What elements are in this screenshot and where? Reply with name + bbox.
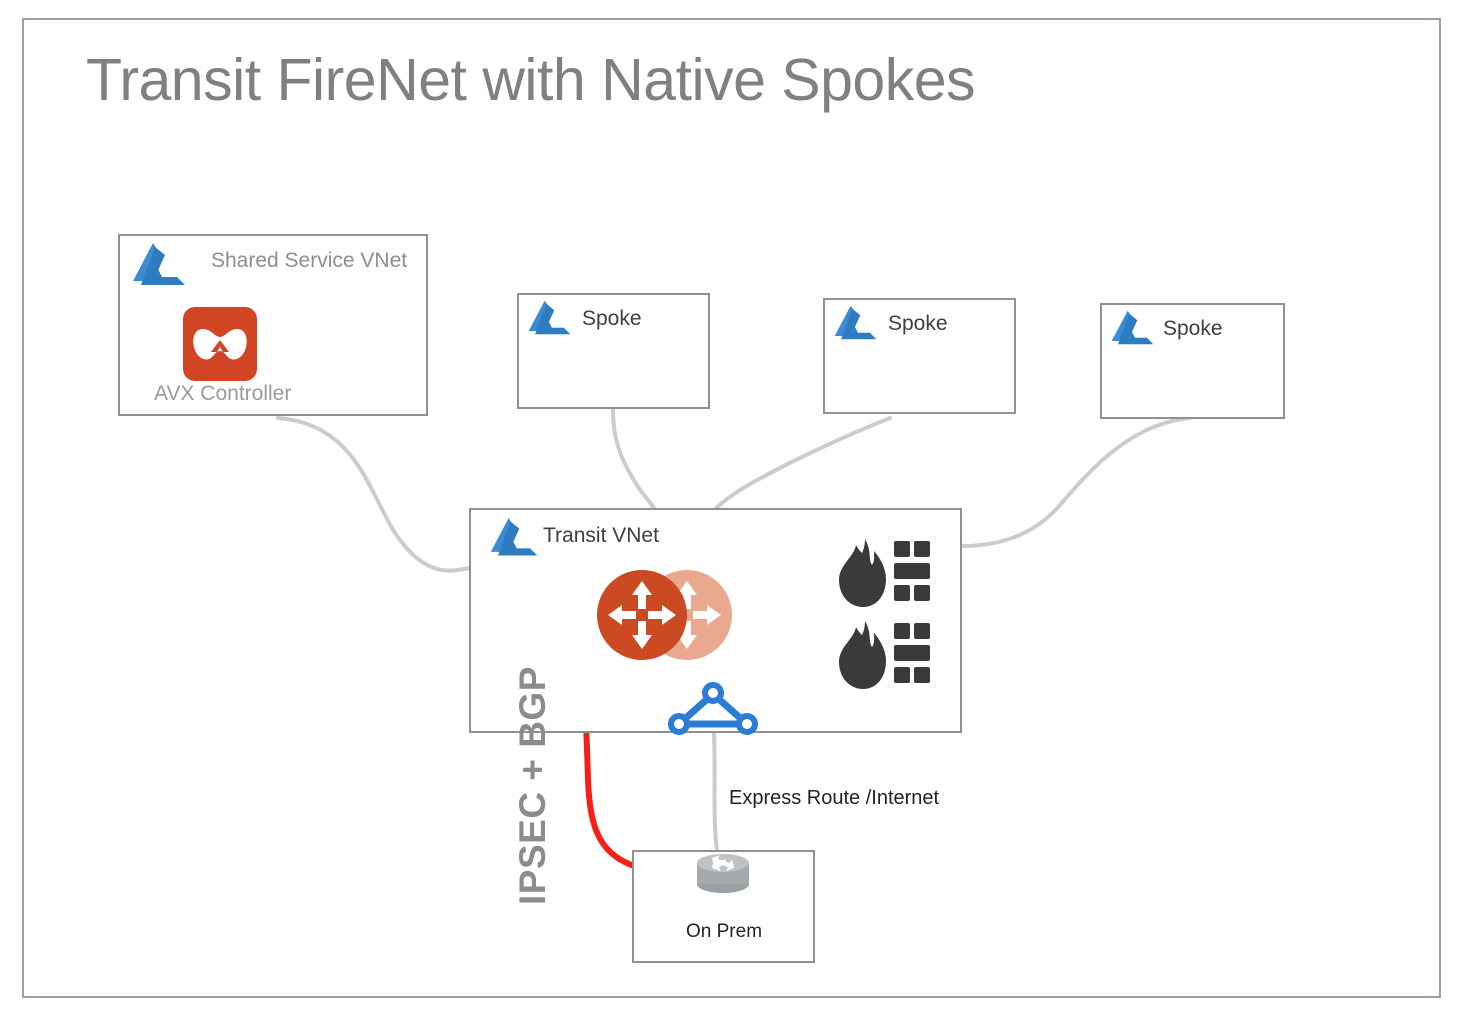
shared-service-vnet-label: Shared Service VNet (211, 249, 407, 273)
avx-controller-label: AVX Controller (154, 382, 291, 406)
azure-logo-icon (131, 241, 187, 291)
diagram-canvas: Transit FireNet with Native Spokes Share… (0, 0, 1468, 1016)
azure-logo-icon (1110, 309, 1155, 349)
azure-logo-icon (527, 299, 572, 339)
aviatrix-transit-gateway-icon[interactable] (596, 569, 688, 661)
spoke-vnet-label-2: Spoke (888, 312, 948, 336)
spoke-vnet-label-3: Spoke (1163, 317, 1223, 341)
page-title: Transit FireNet with Native Spokes (86, 47, 975, 115)
ipsec-bgp-label: IPSEC + BGP (512, 666, 554, 905)
azure-logo-icon (489, 516, 539, 561)
onprem-label: On Prem (686, 921, 762, 943)
aviatrix-controller-icon[interactable] (183, 307, 257, 381)
express-route-label: Express Route /Internet (729, 787, 939, 810)
firewall-icon[interactable] (834, 537, 932, 609)
firewall-icon[interactable] (834, 619, 932, 691)
transit-vnet-label: Transit VNet (543, 524, 659, 548)
azure-vpn-gateway-icon[interactable] (666, 684, 761, 734)
onprem-router-icon[interactable] (694, 848, 752, 898)
spoke-vnet-label-1: Spoke (582, 307, 642, 331)
azure-logo-icon (833, 304, 878, 344)
